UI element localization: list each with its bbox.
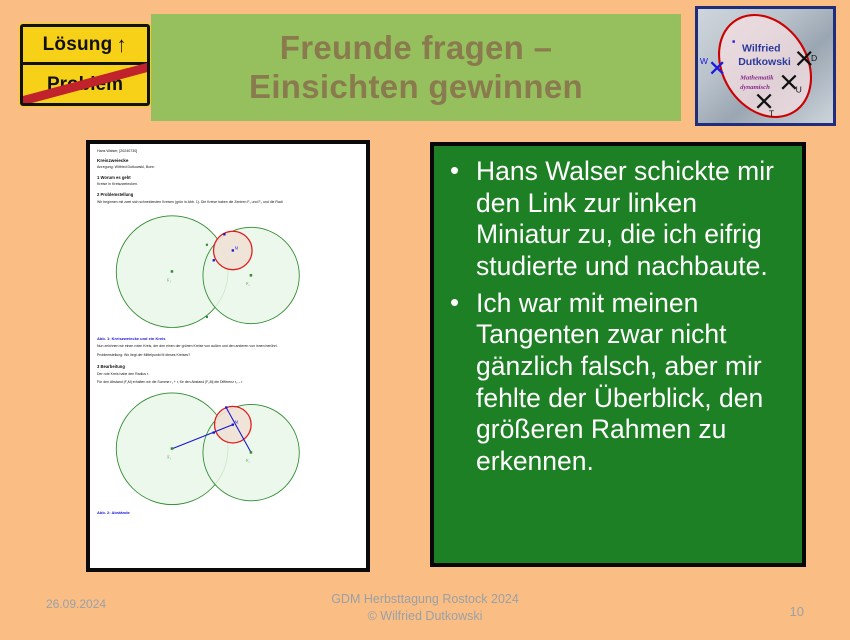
logo-ellipse-graphic: Wilfried Dutkowski Mathematik dynamisch … xyxy=(698,9,833,123)
bullet-item-2: Ich war mit meinen Tangenten zwar nicht … xyxy=(444,288,788,478)
logo-name-line2: Dutkowski xyxy=(738,57,791,68)
doc-after-fig1-text1: Nun zeichnen wir einen roten Kreis, der … xyxy=(97,344,359,350)
slide-canvas: Lösung ↑ Problem Freunde fragen – Einsic… xyxy=(0,0,850,640)
figure-1-label-m: M xyxy=(235,247,239,251)
figure-1-graphic: F₁ F₂ M xyxy=(97,210,359,333)
strikethrough-bar xyxy=(20,60,150,106)
footer-center: GDM Herbsttagung Rostock 2024 © Wilfried… xyxy=(0,591,850,625)
doc-section2-text: Wir beginnen mit zwei sich schneidenden … xyxy=(97,200,359,206)
up-arrow-icon: ↑ xyxy=(117,34,126,56)
bullet-item-1: Hans Walser schickte mir den Link zur li… xyxy=(444,156,788,283)
logo-name-line1: Wilfried xyxy=(742,44,781,55)
document-content: Hans Walser, [20240730] Kreiszweiecke An… xyxy=(90,144,366,515)
intersection-point-top xyxy=(206,244,208,246)
point-t-label: T xyxy=(769,108,775,118)
doc-source-line: Anregung: Wilfried Dutkowski, Bonn xyxy=(97,165,359,170)
slide-title-band: Freunde fragen – Einsichten gewinnen xyxy=(151,14,681,121)
road-sign-graphic: Lösung ↑ Problem xyxy=(20,24,150,106)
point-d-label: D xyxy=(811,53,817,63)
page-title-line1: Freunde fragen – xyxy=(280,29,553,67)
doc-section3-text1: Der rote Kreis habe den Radius r. xyxy=(97,372,359,378)
point-m xyxy=(232,249,234,251)
doc-author-line: Hans Walser, [20240730] xyxy=(97,149,359,154)
figure-1-caption: Abb. 1: Kreiszweiecke und ein Kreis xyxy=(97,336,359,341)
doc-section1-text: Kreise in Kreiszweiecken. xyxy=(97,182,359,187)
logo-subtitle-line1: Mathematik xyxy=(739,74,774,81)
figure-2-label-m: M xyxy=(235,420,239,424)
author-logo: Wilfried Dutkowski Mathematik dynamisch … xyxy=(695,6,836,126)
figure-2-caption: Abb. 2: Abstände xyxy=(97,510,359,515)
page-title-line2: Einsichten gewinnen xyxy=(249,68,583,106)
document-preview-panel[interactable]: Hans Walser, [20240730] Kreiszweiecke An… xyxy=(86,140,370,572)
doc-after-fig1-text2: Problemstellung: Wo liegt der Mittelpunk… xyxy=(97,353,359,359)
point-f2 xyxy=(250,451,253,454)
tangency-point-outer xyxy=(225,406,227,408)
doc-section2-heading: 2 Problemstellung xyxy=(97,192,359,197)
logo-subtitle-line2: dynamisch xyxy=(740,84,770,91)
figure-2-graphic: F₁ F₂ M xyxy=(97,390,359,508)
doc-section1-heading: 1 Worum es geht xyxy=(97,175,359,180)
point-f1 xyxy=(171,270,174,273)
road-sign-top-half: Lösung ↑ xyxy=(23,27,147,65)
doc-section3-heading: 3 Bearbeitung xyxy=(97,364,359,369)
bullet-list: Hans Walser schickte mir den Link zur li… xyxy=(444,156,788,478)
footer-page-number: 10 xyxy=(790,604,804,619)
doc-heading: Kreiszweiecke xyxy=(97,158,359,163)
figure-2: F₁ F₂ M xyxy=(97,390,359,508)
point-f2 xyxy=(250,274,253,277)
doc-section3-text2: Für den Abstand |F₁M| erhalten wir die S… xyxy=(97,380,359,386)
tangency-point-inner xyxy=(213,259,215,261)
logo-dot xyxy=(732,40,734,42)
point-w-label: W xyxy=(700,56,709,66)
tangency-point-inner xyxy=(213,431,215,433)
footer-event-line: GDM Herbsttagung Rostock 2024 xyxy=(0,591,850,608)
road-sign-top-label: Lösung xyxy=(43,35,113,54)
tangency-point-outer xyxy=(223,233,225,235)
point-u-label: U xyxy=(796,85,802,95)
footer-copyright-line: © Wilfried Dutkowski xyxy=(0,608,850,625)
point-f1 xyxy=(171,447,174,450)
road-sign-bottom-half: Problem xyxy=(23,65,147,103)
point-m xyxy=(232,423,234,425)
intersection-point-bottom xyxy=(206,316,208,318)
content-text-box: Hans Walser schickte mir den Link zur li… xyxy=(430,142,806,567)
figure-1: F₁ F₂ M xyxy=(97,210,359,333)
